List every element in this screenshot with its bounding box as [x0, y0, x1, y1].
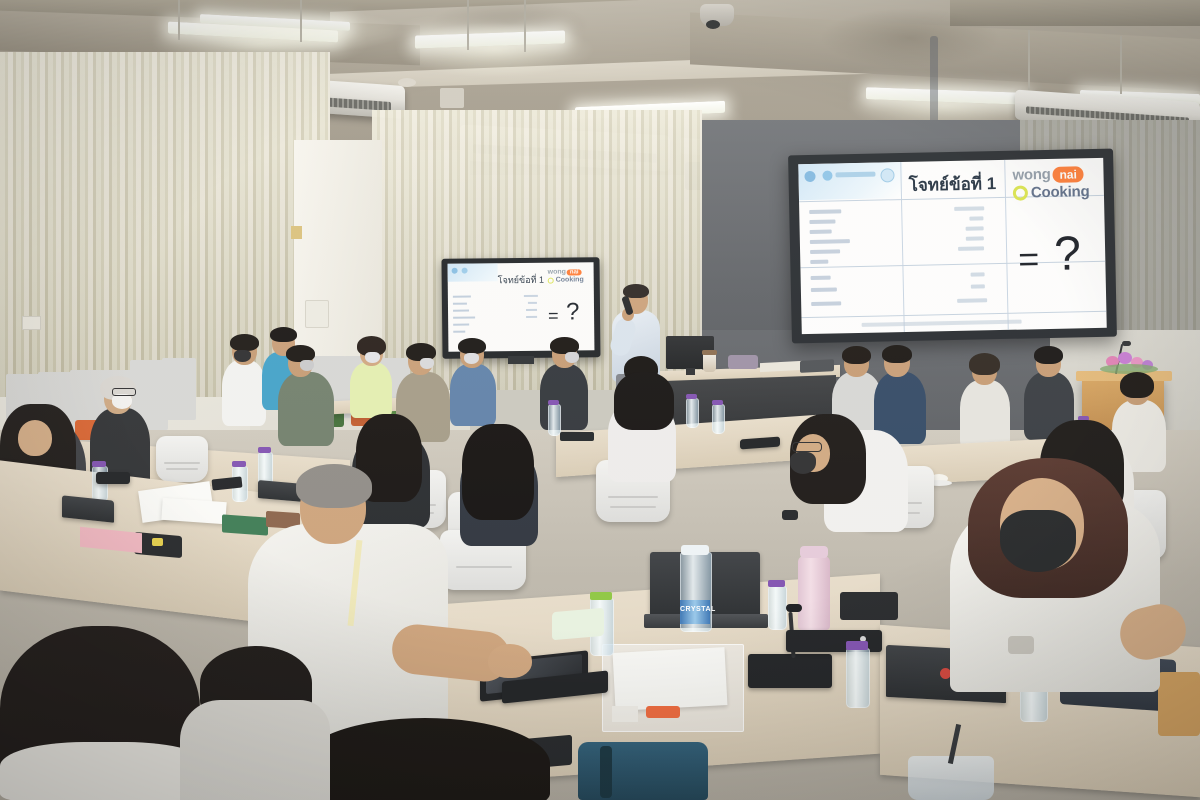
slide-col-divider-1 [900, 162, 905, 332]
chair-slot [166, 468, 198, 470]
conference-microphone-base[interactable] [96, 472, 130, 484]
water-bottle [712, 404, 725, 434]
monitor-question-mark: ? [566, 300, 580, 324]
table-row [809, 209, 841, 214]
bottle-cap [92, 461, 106, 467]
wongnai-word-cooking: Cooking [1031, 183, 1090, 201]
bin-sticker [612, 706, 638, 722]
paper-sheet [161, 498, 226, 524]
monitor-wongnai-logo: wong nai Cooking [548, 268, 584, 283]
chair-slot [608, 496, 658, 498]
monitor-brand-nai: nai [567, 269, 582, 275]
attendee-hair [230, 334, 259, 351]
attendee-hair [842, 346, 871, 364]
desk-bag [728, 355, 758, 369]
attendee-mask [790, 452, 816, 474]
attendee-mask [464, 353, 479, 364]
bottle-cap [768, 580, 785, 587]
projection-screen[interactable]: โจทย์ข้อที่ 1 wong nai Cooking [788, 149, 1117, 344]
table-row [810, 230, 832, 234]
chair-slot [164, 462, 200, 464]
slide-question-mark: ? [1054, 230, 1083, 279]
wongnai-circle-icon [1013, 185, 1028, 200]
chair-frame [162, 358, 196, 420]
notebook-green [222, 514, 268, 535]
monitor-table-value [528, 302, 537, 304]
desk-laptop [800, 359, 834, 373]
attendee-hair [969, 353, 1000, 375]
monitor-brand-wong: wong [548, 269, 566, 276]
attendee-mask [234, 350, 251, 362]
monitor-stand [508, 356, 534, 364]
attendee-hair [1120, 372, 1154, 398]
slide-footer-note [862, 320, 1022, 327]
table-row [811, 301, 841, 306]
wall-switch-plate [305, 300, 329, 328]
monitor-table-value [526, 309, 537, 311]
thermos-bottle [798, 556, 830, 630]
eyeglasses [792, 442, 822, 452]
water-bottle [548, 404, 561, 436]
slide-surface: โจทย์ข้อที่ 1 wong nai Cooking [798, 158, 1106, 334]
bottle-cap [686, 394, 697, 399]
table-row [811, 276, 831, 280]
attendee-hand [488, 644, 532, 678]
lunch-box-sticker [152, 538, 163, 546]
backpack-strap [600, 746, 612, 798]
table-row [810, 260, 828, 264]
chair[interactable] [156, 436, 208, 482]
monitor-table-row [453, 316, 475, 318]
lunch-box [840, 592, 898, 620]
monitor-table-row [453, 331, 465, 333]
wongnai-cooking-row: Cooking [1013, 183, 1090, 202]
monitor-slide-title: โจทย์ข้อที่ 1 [498, 273, 544, 287]
camera-lens [706, 20, 720, 29]
monitor-equals-sign: = [548, 307, 559, 325]
monitor-table-row [453, 296, 471, 298]
podium-mic-head [1122, 341, 1131, 346]
monitor-brand-circle-icon [548, 277, 554, 283]
coffee-cup-lid [702, 350, 717, 355]
attendee-mask [365, 352, 380, 363]
junction-box [440, 88, 464, 108]
bottle-cap [232, 461, 246, 467]
table-row [810, 239, 850, 244]
smoke-detector [398, 78, 416, 87]
attendee-hair [1034, 346, 1063, 364]
power-outlet [22, 316, 41, 330]
thermos-lid [800, 546, 828, 558]
attendee-hair [882, 345, 912, 363]
wongnai-pill-nai: nai [1052, 166, 1084, 183]
scissors-orange [646, 706, 680, 718]
wongnai-logo: wong nai Cooking [1012, 165, 1089, 202]
tote-bag [1158, 672, 1200, 736]
conference-microphone-base[interactable] [748, 654, 832, 688]
slide-col-divider-2 [1004, 160, 1009, 330]
table-row [969, 216, 983, 220]
attendee-body [350, 362, 392, 418]
wristwatch [782, 510, 798, 520]
table-row [966, 226, 984, 230]
water-bottle [768, 586, 787, 630]
attendee-head [18, 420, 52, 456]
paper-stack-in-bin [613, 647, 728, 711]
wall-notice-tag [291, 226, 302, 239]
hanger-rod-6 [1120, 36, 1122, 94]
bottle-brand-text: CRYSTAL [680, 606, 710, 613]
eyeglasses [112, 388, 136, 396]
attendee-mask [112, 394, 132, 409]
attendee-hair-curly [300, 718, 550, 800]
microphone-head[interactable] [786, 604, 802, 612]
bottle-cap [590, 592, 612, 600]
tissue-pack [552, 608, 604, 641]
slide-row-divider-3 [801, 311, 1106, 318]
wongnai-word-wong: wong [1012, 166, 1050, 184]
conference-mic-back [560, 432, 594, 441]
attendee-mask [565, 352, 579, 363]
attendee-hair-long [614, 372, 674, 430]
hanger-rod-2 [300, 0, 302, 42]
hanger-rod-3 [467, 0, 469, 50]
bottle-cap [548, 400, 559, 405]
attendee-hair [458, 338, 486, 354]
slide-title: โจทย์ข้อที่ 1 [908, 170, 996, 199]
attendee-mask [300, 360, 314, 371]
band-icon-label [835, 172, 875, 178]
monitor-table-row [453, 303, 467, 305]
chair-slot [610, 506, 656, 508]
monitor-table-value [526, 316, 537, 318]
podium-flower-2 [1118, 352, 1132, 364]
monitor-table-row [453, 310, 469, 312]
bottle-cap [681, 545, 709, 555]
hanger-rod-1 [178, 0, 180, 40]
monitor-brand-cooking: Cooking [556, 276, 584, 283]
table-row [966, 236, 984, 240]
monitor-band-icon-2 [462, 268, 468, 274]
backpack [578, 742, 708, 800]
hanger-rod-5 [1028, 30, 1030, 90]
light-glow-3 [395, 22, 595, 78]
attendee-body [960, 380, 1010, 450]
table-row [810, 249, 840, 254]
hanger-rod-4 [524, 0, 526, 52]
table-row [809, 219, 835, 224]
table-row [811, 287, 837, 292]
coffee-cup [703, 353, 716, 372]
water-bottle [686, 398, 699, 428]
presenter-monitor-stand [686, 368, 695, 375]
wristwatch [1008, 636, 1034, 654]
bottle-cap [712, 400, 723, 405]
attendee-body [180, 700, 330, 800]
attendee-mask [1000, 510, 1076, 572]
monitor-table-value [524, 295, 538, 297]
bottle-cap [258, 447, 271, 453]
attendee-body [278, 372, 334, 446]
attendee-body [450, 364, 496, 426]
monitor-band-icon-1 [452, 268, 458, 274]
attendee-hair [270, 327, 297, 342]
photo-scene: โจทย์ข้อที่ 1 wong nai Cooking [0, 0, 1200, 800]
bottle-cap [846, 641, 868, 650]
table-row [958, 246, 984, 251]
attendee-body [0, 742, 210, 800]
attendee-hair-grey [296, 464, 372, 508]
ceiling-stain-1 [820, 8, 1000, 68]
table-row [954, 206, 984, 211]
monitor-table-row [453, 324, 469, 326]
table-row [971, 272, 985, 276]
table-row [971, 284, 985, 288]
attendee-mask [420, 358, 434, 369]
attendee-hair-long [462, 424, 534, 520]
attendee-body [222, 360, 266, 426]
table-row [957, 298, 987, 303]
water-bottle [846, 648, 870, 708]
chair-slot [456, 566, 512, 568]
slide-equals-sign: = [1018, 241, 1041, 277]
